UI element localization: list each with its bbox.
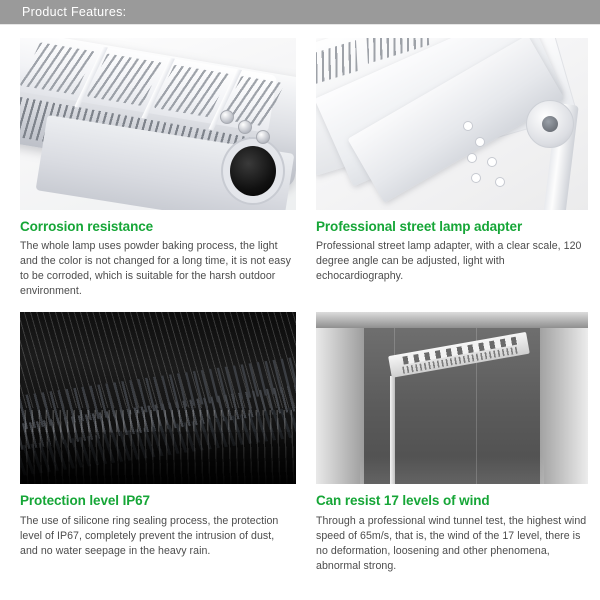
mounting-hole bbox=[464, 122, 472, 130]
mounting-hole bbox=[496, 178, 504, 186]
product-features-header-bar: Product Features: bbox=[0, 0, 600, 25]
feature-image-adjustable-lamp-adapter bbox=[316, 38, 588, 210]
product-features-grid: Corrosion resistance The whole lamp uses… bbox=[0, 25, 600, 574]
tunnel-ceiling bbox=[316, 312, 588, 328]
feature-description: Through a professional wind tunnel test,… bbox=[316, 514, 588, 574]
mounting-hole bbox=[472, 174, 480, 182]
feature-row-1: Corrosion resistance The whole lamp uses… bbox=[0, 25, 600, 299]
feature-card-wind-resistance: Can resist 17 levels of wind Through a p… bbox=[300, 299, 600, 573]
lamp-bolt bbox=[238, 120, 252, 134]
feature-title: Corrosion resistance bbox=[20, 219, 294, 235]
mounting-hole bbox=[488, 158, 496, 166]
lamp-bolt bbox=[256, 130, 270, 144]
feature-description: The whole lamp uses powder baking proces… bbox=[20, 239, 294, 299]
tunnel-floor-glow bbox=[360, 456, 544, 484]
mounting-hole bbox=[468, 154, 476, 162]
feature-title: Protection level IP67 bbox=[20, 493, 294, 509]
feature-card-corrosion-resistance: Corrosion resistance The whole lamp uses… bbox=[0, 25, 300, 299]
feature-card-street-lamp-adapter: Professional street lamp adapter Profess… bbox=[300, 25, 600, 299]
feature-row-2: Protection level IP67 The use of silicon… bbox=[0, 299, 600, 573]
feature-title: Professional street lamp adapter bbox=[316, 219, 590, 235]
tunnel-left-wall bbox=[316, 312, 364, 484]
image-shadow-overlay bbox=[20, 432, 296, 484]
feature-image-led-street-lamp-housing bbox=[20, 38, 296, 210]
feature-image-wind-tunnel-test bbox=[316, 312, 588, 484]
page-title: Product Features: bbox=[22, 5, 126, 19]
feature-card-protection-level-ip67: Protection level IP67 The use of silicon… bbox=[0, 299, 300, 573]
lamp-bolt bbox=[220, 110, 234, 124]
lamp-cable-port bbox=[230, 146, 276, 196]
feature-title: Can resist 17 levels of wind bbox=[316, 493, 590, 509]
adjustable-joint bbox=[526, 100, 574, 148]
feature-image-rain-water-test bbox=[20, 312, 296, 484]
feature-description: The use of silicone ring sealing process… bbox=[20, 514, 294, 559]
feature-description: Professional street lamp adapter, with a… bbox=[316, 239, 588, 284]
tunnel-right-wall bbox=[540, 312, 588, 484]
mounting-hole bbox=[476, 138, 484, 146]
